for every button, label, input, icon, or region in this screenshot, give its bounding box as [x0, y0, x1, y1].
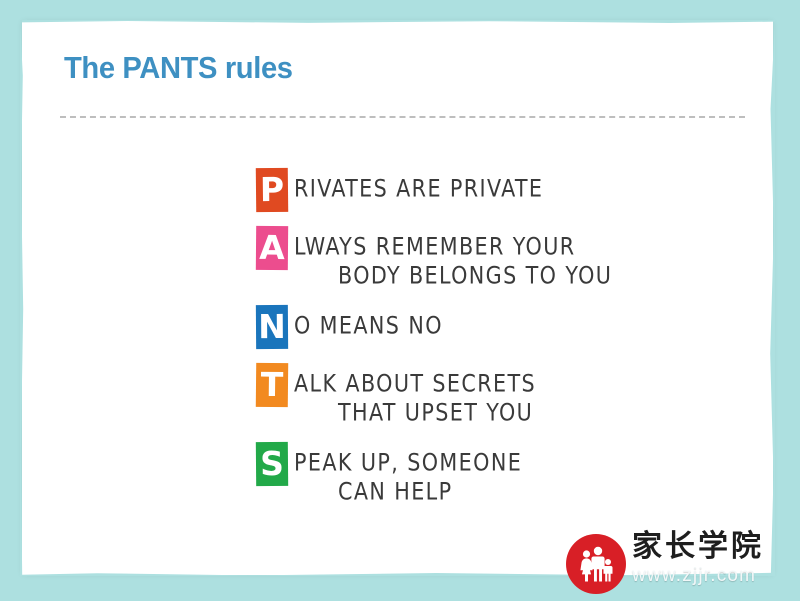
rule-line: CAN HELP [294, 477, 522, 508]
letter-tile-a: A [256, 226, 288, 270]
rule-item: S PEAK UP, SOMEONE CAN HELP [256, 442, 726, 507]
watermark-url: www.zjjr.com [632, 565, 800, 587]
letter-tile-s: S [256, 442, 288, 486]
rule-line: PEAK UP, SOMEONE [294, 448, 522, 479]
rule-text-n: O MEANS NO [294, 305, 443, 340]
title-divider [60, 116, 745, 118]
rule-text-p: RIVATES ARE PRIVATE [294, 168, 543, 203]
watermark: 家长学院 www.zjjr.com [566, 528, 800, 601]
letter-tile-n: N [256, 305, 288, 349]
rule-item: P RIVATES ARE PRIVATE [256, 168, 726, 212]
family-icon [566, 534, 626, 594]
rule-item: T ALK ABOUT SECRETS THAT UPSET YOU [256, 363, 726, 428]
letter-tile-p: P [256, 168, 288, 212]
letter-tile-t: T [256, 363, 288, 407]
rule-line: THAT UPSET YOU [294, 398, 536, 429]
rule-item: N O MEANS NO [256, 305, 726, 349]
rule-line: LWAYS REMEMBER YOUR [294, 232, 612, 263]
rule-item: A LWAYS REMEMBER YOUR BODY BELONGS TO YO… [256, 226, 726, 291]
rule-line: BODY BELONGS TO YOU [294, 261, 612, 292]
rule-line: O MEANS NO [294, 311, 443, 342]
slide-canvas: The PANTS rules P RIVATES ARE PRIVATE A … [0, 0, 800, 601]
watermark-text: 家长学院 www.zjjr.com [632, 530, 800, 587]
pants-rules-list: P RIVATES ARE PRIVATE A LWAYS REMEMBER Y… [256, 168, 726, 521]
rule-line: ALK ABOUT SECRETS [294, 369, 536, 400]
page-title: The PANTS rules [64, 50, 293, 86]
watermark-brand: 家长学院 [632, 530, 800, 563]
rule-text-t: ALK ABOUT SECRETS THAT UPSET YOU [294, 363, 536, 428]
rule-text-s: PEAK UP, SOMEONE CAN HELP [294, 442, 522, 507]
rule-text-a: LWAYS REMEMBER YOUR BODY BELONGS TO YOU [294, 226, 612, 291]
rule-line: RIVATES ARE PRIVATE [294, 174, 543, 205]
